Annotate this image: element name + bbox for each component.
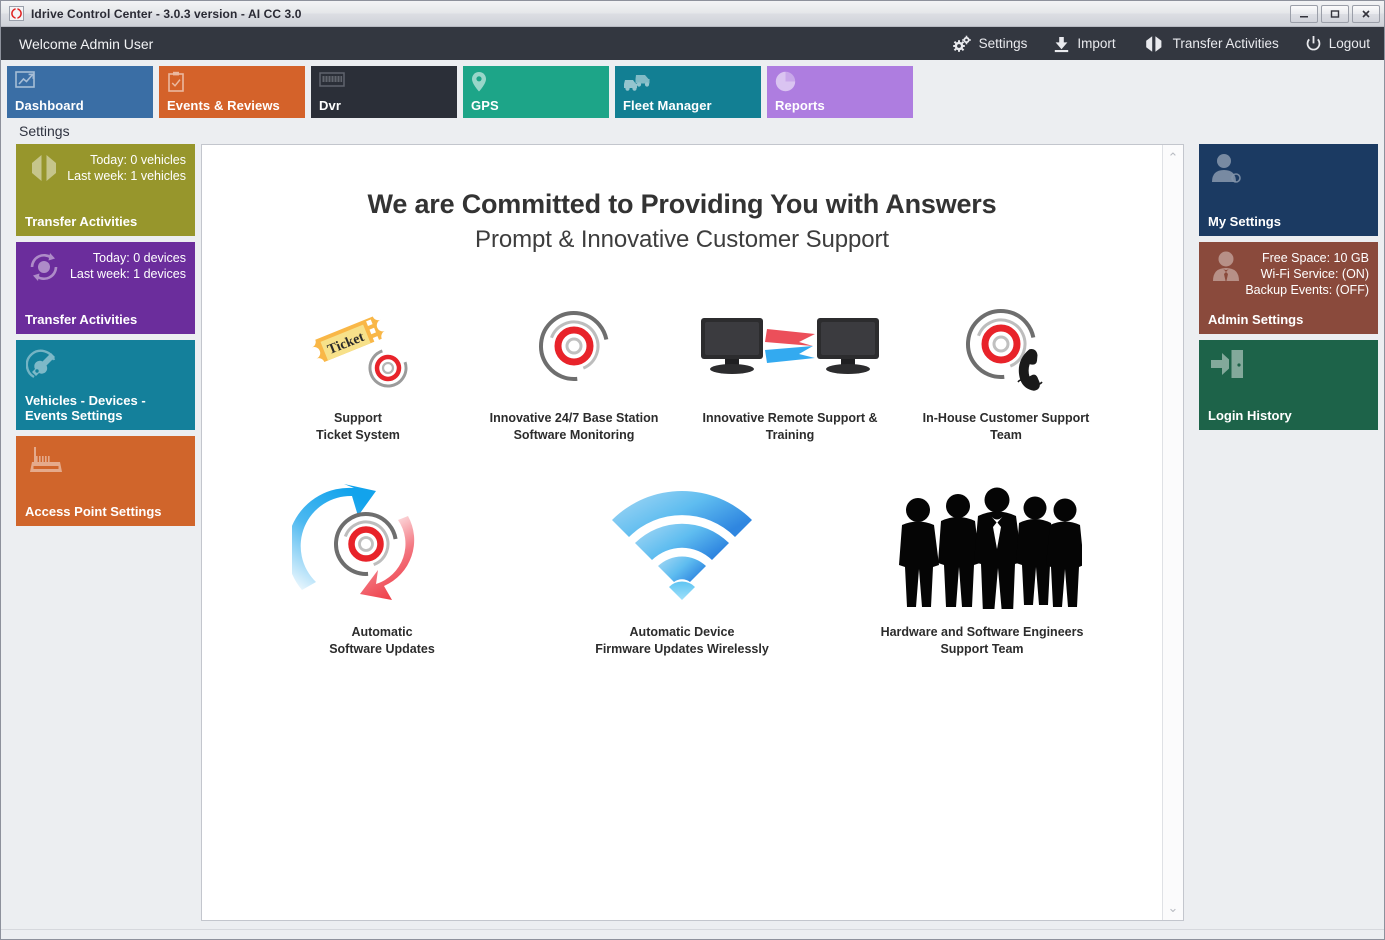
wrench-icon [26, 348, 62, 387]
nav-tile-dvr-label: Dvr [319, 98, 341, 113]
nav-tile-dvr[interactable]: Dvr [311, 66, 457, 118]
map-pin-icon [471, 80, 487, 97]
tile-my-settings[interactable]: My Settings [1199, 144, 1378, 236]
vehicles-icon [623, 78, 651, 95]
nav-tile-fleet-manager-label: Fleet Manager [623, 98, 712, 113]
caption-line-1: Automatic Device [595, 624, 769, 641]
breadcrumb-bar: Settings [1, 118, 1384, 144]
power-icon [1305, 35, 1322, 53]
transfer-arrows-icon [1142, 35, 1166, 53]
feature-grid: Ticket Support [202, 296, 1162, 658]
feature-automatic-firmware-updates: Automatic Device Firmware Updates Wirele… [532, 480, 832, 658]
nav-tile-gps-label: GPS [471, 98, 499, 113]
header-settings-label: Settings [979, 36, 1028, 51]
nav-tile-events-reviews[interactable]: Events & Reviews [159, 66, 305, 118]
feature-support-ticket-system: Ticket Support [250, 296, 466, 444]
tile-stat-line: Backup Events: (OFF) [1208, 282, 1369, 298]
header-import-button[interactable]: Import [1053, 35, 1115, 53]
tile-stat-line: Wi-Fi Service: (ON) [1208, 266, 1369, 282]
tile-stats: Today: 0 devices Last week: 1 devices [25, 250, 186, 282]
caption-line-1: Innovative 24/7 Base Station [490, 410, 659, 427]
app-target-icon [9, 6, 24, 21]
nav-tile-fleet-manager[interactable]: Fleet Manager [615, 66, 761, 118]
content-vertical-scrollbar[interactable]: ⌃ ⌄ [1162, 145, 1183, 920]
nav-tile-reports[interactable]: Reports [767, 66, 913, 118]
maximize-button[interactable] [1321, 5, 1349, 23]
caption-line-2: Training [702, 427, 877, 444]
feature-row-1: Ticket Support [202, 296, 1162, 444]
nav-tile-events-reviews-label: Events & Reviews [167, 98, 280, 113]
wifi-icon [607, 480, 757, 610]
content-headline: We are Committed to Providing You with A… [202, 189, 1162, 220]
auto-update-icon [292, 480, 472, 610]
tile-access-point-settings[interactable]: Access Point Settings [16, 436, 195, 526]
gears-icon [951, 35, 972, 53]
feature-caption: In-House Customer Support Team [923, 410, 1090, 444]
tile-label: Access Point Settings [25, 504, 186, 519]
feature-caption: Innovative Remote Support & Training [702, 410, 877, 444]
tile-stats: Today: 0 vehicles Last week: 1 vehicles [25, 152, 186, 184]
caption-line-2: Team [923, 427, 1090, 444]
header-actions: Settings Import [951, 35, 1370, 53]
tile-label: Transfer Activities [25, 312, 186, 327]
feature-base-station-monitoring: Innovative 24/7 Base Station Software Mo… [466, 296, 682, 444]
main-nav-tiles: Dashboard Events & Reviews [1, 60, 1384, 118]
feature-caption: Hardware and Software Engineers Support … [881, 624, 1084, 658]
caption-line-2: Software Monitoring [490, 427, 659, 444]
header-logout-label: Logout [1329, 36, 1370, 51]
tile-vehicles-devices-events-settings[interactable]: Vehicles - Devices - Events Settings [16, 340, 195, 430]
feature-caption: Innovative 24/7 Base Station Software Mo… [490, 410, 659, 444]
tile-transfer-activities-devices[interactable]: Today: 0 devices Last week: 1 devices Tr… [16, 242, 195, 334]
login-door-icon [1209, 348, 1245, 385]
header-transfer-activities-button[interactable]: Transfer Activities [1142, 35, 1279, 53]
caption-line-1: Automatic [329, 624, 435, 641]
tile-label: Vehicles - Devices - Events Settings [25, 393, 186, 423]
tile-stats: Free Space: 10 GB Wi-Fi Service: (ON) Ba… [1208, 250, 1369, 298]
welcome-message: Welcome Admin User [19, 36, 153, 52]
support-phone-icon [956, 296, 1056, 396]
tile-stat-line: Last week: 1 vehicles [25, 168, 186, 184]
header-settings-button[interactable]: Settings [951, 35, 1028, 53]
download-icon [1053, 35, 1070, 53]
caption-line-1: In-House Customer Support [923, 410, 1090, 427]
chart-trend-icon [15, 79, 38, 96]
app-header-bar: Welcome Admin User [1, 27, 1384, 60]
close-button[interactable] [1352, 5, 1380, 23]
pie-chart-icon [775, 79, 796, 96]
nav-tile-gps[interactable]: GPS [463, 66, 609, 118]
feature-remote-support-training: Innovative Remote Support & Training [682, 296, 898, 444]
caption-line-2: Support Team [881, 641, 1084, 658]
feature-caption: Automatic Software Updates [329, 624, 435, 658]
base-station-target-icon [529, 296, 619, 396]
tile-login-history[interactable]: Login History [1199, 340, 1378, 430]
tile-stat-line: Free Space: 10 GB [1208, 250, 1369, 266]
nav-tile-dashboard-label: Dashboard [15, 98, 84, 113]
feature-hardware-software-engineers: Hardware and Software Engineers Support … [832, 480, 1132, 658]
feature-in-house-support-team: In-House Customer Support Team [898, 296, 1114, 444]
header-transfer-activities-label: Transfer Activities [1173, 36, 1279, 51]
feature-caption: Support Ticket System [316, 410, 400, 444]
nav-tile-reports-label: Reports [775, 98, 825, 113]
support-content: We are Committed to Providing You with A… [202, 145, 1162, 920]
user-gear-icon [1209, 152, 1245, 191]
tile-label: Login History [1208, 408, 1369, 423]
content-panel: We are Committed to Providing You with A… [201, 144, 1184, 921]
feature-row-2: Automatic Software Updates [202, 480, 1162, 658]
dvr-device-icon [319, 76, 345, 93]
body-area: Today: 0 vehicles Last week: 1 vehicles … [1, 144, 1384, 929]
tile-stat-line: Last week: 1 devices [25, 266, 186, 282]
scroll-up-arrow-icon[interactable]: ⌃ [1168, 151, 1179, 164]
tile-label: Transfer Activities [25, 214, 186, 229]
remote-monitors-icon [695, 296, 885, 396]
application-window: Idrive Control Center - 3.0.3 version - … [0, 0, 1385, 940]
tile-stat-line: Today: 0 devices [25, 250, 186, 266]
team-silhouette-icon [882, 480, 1082, 610]
caption-line-2: Firmware Updates Wirelessly [595, 641, 769, 658]
title-bar: Idrive Control Center - 3.0.3 version - … [1, 1, 1384, 27]
content-subhead: Prompt & Innovative Customer Support [202, 226, 1162, 254]
caption-line-1: Hardware and Software Engineers [881, 624, 1084, 641]
feature-caption: Automatic Device Firmware Updates Wirele… [595, 624, 769, 658]
nav-tile-dashboard[interactable]: Dashboard [7, 66, 153, 118]
left-settings-panel: Today: 0 vehicles Last week: 1 vehicles … [7, 144, 195, 921]
tile-admin-settings[interactable]: Free Space: 10 GB Wi-Fi Service: (ON) Ba… [1199, 242, 1378, 334]
scroll-down-arrow-icon[interactable]: ⌄ [1168, 901, 1179, 914]
tile-transfer-activities-vehicles[interactable]: Today: 0 vehicles Last week: 1 vehicles … [16, 144, 195, 236]
right-settings-panel: My Settings Free Space: 10 GB Wi- [1190, 144, 1378, 921]
minimize-button[interactable] [1290, 5, 1318, 23]
clipboard-check-icon [167, 80, 185, 97]
tile-label: Admin Settings [1208, 312, 1369, 327]
feature-automatic-software-updates: Automatic Software Updates [232, 480, 532, 658]
window-controls [1290, 5, 1380, 23]
window-title: Idrive Control Center - 3.0.3 version - … [31, 7, 302, 21]
router-icon [26, 444, 68, 483]
caption-line-1: Innovative Remote Support & [702, 410, 877, 427]
tile-label: My Settings [1208, 214, 1369, 229]
header-import-label: Import [1077, 36, 1115, 51]
tile-stat-line: Today: 0 vehicles [25, 152, 186, 168]
caption-line-1: Support [316, 410, 400, 427]
status-bar [1, 929, 1384, 939]
header-logout-button[interactable]: Logout [1305, 35, 1370, 53]
support-ticket-icon: Ticket [306, 296, 411, 396]
breadcrumb: Settings [19, 123, 70, 139]
caption-line-2: Software Updates [329, 641, 435, 658]
caption-line-2: Ticket System [316, 427, 400, 444]
